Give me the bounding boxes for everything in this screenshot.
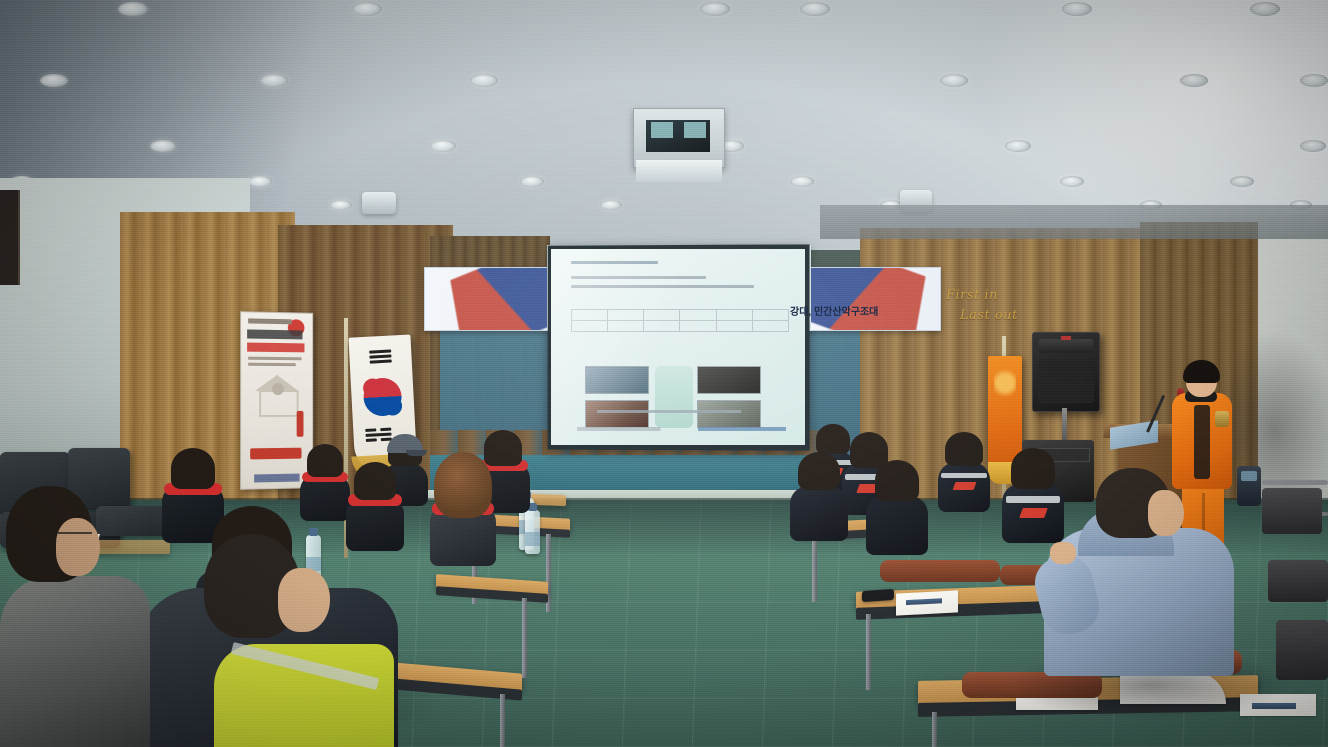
projector-mount-plate [636,160,722,182]
chair-right-1 [880,560,1000,582]
mobile-phone-r1 [862,589,894,602]
hair [354,462,396,500]
ceiling-downlight [1300,74,1328,87]
blue-shirt-hand [1050,542,1076,564]
foreground-face [278,568,330,632]
desk-left-2-leg [522,598,527,678]
pa-speaker [1032,332,1100,412]
spare-chair-2 [1268,560,1328,602]
ceiling-downlight [150,140,176,152]
ceiling-downlight [1062,2,1092,16]
person-foreground-left [0,480,150,747]
glasses-icon [58,532,92,542]
torso [866,496,928,555]
smoke-alarm-icon [272,383,284,395]
ceiling-downlight [118,2,148,16]
ceiling-downlight [330,200,352,210]
wall-gold-script: First in Last out [946,286,1066,326]
presenter-hair [1183,360,1220,383]
ceiling-downlight [940,74,968,87]
presenter-shoulder-patch [1215,411,1229,427]
ceiling-downlight [1300,140,1326,152]
audience-left-woman [430,452,496,562]
desk-right-3-leg [932,712,937,747]
speaker-grill [1038,359,1094,403]
hair [945,432,982,466]
desk-right-1-leg [812,536,817,602]
taeguk-symbol [363,377,403,417]
audience-right-5 [866,460,928,553]
wall-rail-upper [1262,480,1328,485]
ceiling-downlight [600,200,622,210]
banner-body-1 [248,357,301,361]
banner-subtitle-right: 강대, 민간산악구조대 [790,303,878,318]
screen-glare-2 [551,249,805,445]
ceiling-downlight [1250,2,1280,16]
hair [307,444,343,477]
person-blue-shirt [1044,468,1254,698]
ceiling-soffit [820,205,1328,239]
desk-left-3-leg [500,694,505,747]
ceiling-downlight [1005,140,1031,152]
ceiling-downlight [790,176,814,187]
gold-script-line-2: Last out [946,306,1066,326]
desk-right-2-leg [866,614,871,690]
ceiling-downlight [248,176,272,187]
ceiling-downlight [700,2,730,16]
hair [171,448,216,489]
ceiling-downlight [1230,176,1254,187]
flag-emblem [994,366,1016,400]
reflective-stripe [941,473,987,479]
banner-toptext [248,318,292,324]
ceiling-downlight [1180,74,1208,87]
ceiling-downlight [1060,176,1084,187]
banner-subline [247,343,304,353]
rank-chevron [952,482,976,490]
fire-extinguisher-icon [297,411,304,437]
cap-brim [406,450,427,456]
hair [875,460,920,501]
speaker-horn [1039,339,1093,353]
speaker-badge [1061,336,1071,340]
house-icon [255,375,298,413]
projector-vent-right [684,122,706,138]
bottle-label-3 [525,532,540,546]
foreground-left-jacket [0,576,150,747]
foreground-left-face [56,518,100,576]
audience-right-6 [790,452,848,539]
person-foreground-vest [118,520,418,747]
ceiling-downlight [470,74,498,87]
audience-right-3 [938,432,990,510]
handout-paper-r1 [896,590,958,615]
fire-department-logo [254,474,299,483]
banner-red-strip [250,448,301,460]
torso [790,486,848,541]
spare-chair-1 [1262,488,1322,534]
ceiling-downlight [40,74,68,87]
water-bottle-3 [525,510,540,554]
ceiling-downlight [352,2,382,16]
rank-chevron [1019,508,1047,518]
projector-vent-left [651,122,673,138]
ceiling-downlight [520,176,544,187]
ceiling-spotlight-left [362,192,396,214]
ceiling-downlight [800,2,830,16]
wall-picture-frame [0,190,20,285]
woman-curly-hair [434,452,492,518]
meeting-room-photo: First in Last out [0,0,1328,747]
handout-header-band [906,598,942,605]
ceiling-downlight [260,74,288,87]
gold-script-line-1: First in [946,286,1066,306]
ceiling-downlight [430,140,456,152]
blue-shirt-face [1148,490,1184,536]
banner-headline [247,329,302,339]
banner-body-2 [248,363,296,366]
hair [798,452,840,490]
